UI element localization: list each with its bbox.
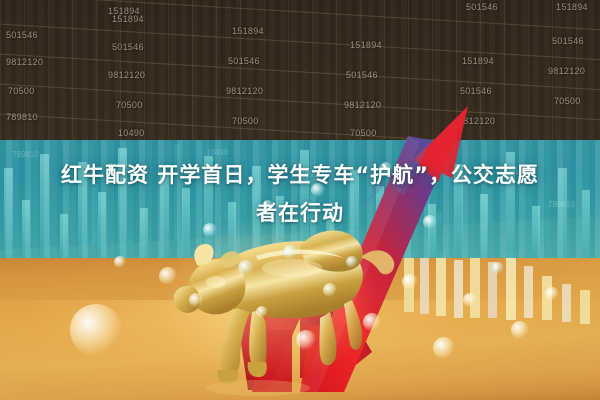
headline-text: 红牛配资 开学首日，学生专车“护航”，公交志愿 者在行动 (0, 156, 600, 232)
banner-image: 1518945015469812120705007898101518945015… (0, 0, 600, 400)
bokeh-dot (159, 267, 177, 285)
bokeh-dot (363, 313, 381, 331)
bokeh-dot (296, 330, 316, 350)
bokeh-dot (463, 293, 477, 307)
bokeh-dot (283, 245, 297, 259)
bokeh-dot (70, 304, 122, 356)
headline-line-1: 红牛配资 开学首日，学生专车“护航”，公交志愿 (0, 156, 600, 194)
bokeh-dot (256, 306, 268, 318)
bokeh-dot (114, 256, 126, 268)
bokeh-dot (492, 262, 504, 274)
bokeh-dot (511, 321, 529, 339)
bokeh-dot (238, 260, 254, 276)
bokeh-dot (323, 283, 337, 297)
bokeh-dot (433, 337, 455, 359)
bokeh-dot (545, 287, 559, 301)
headline-line-2: 者在行动 (0, 194, 600, 232)
bokeh-dot (346, 256, 358, 268)
bokeh-dot (189, 293, 203, 307)
bokeh-dot (402, 274, 418, 290)
